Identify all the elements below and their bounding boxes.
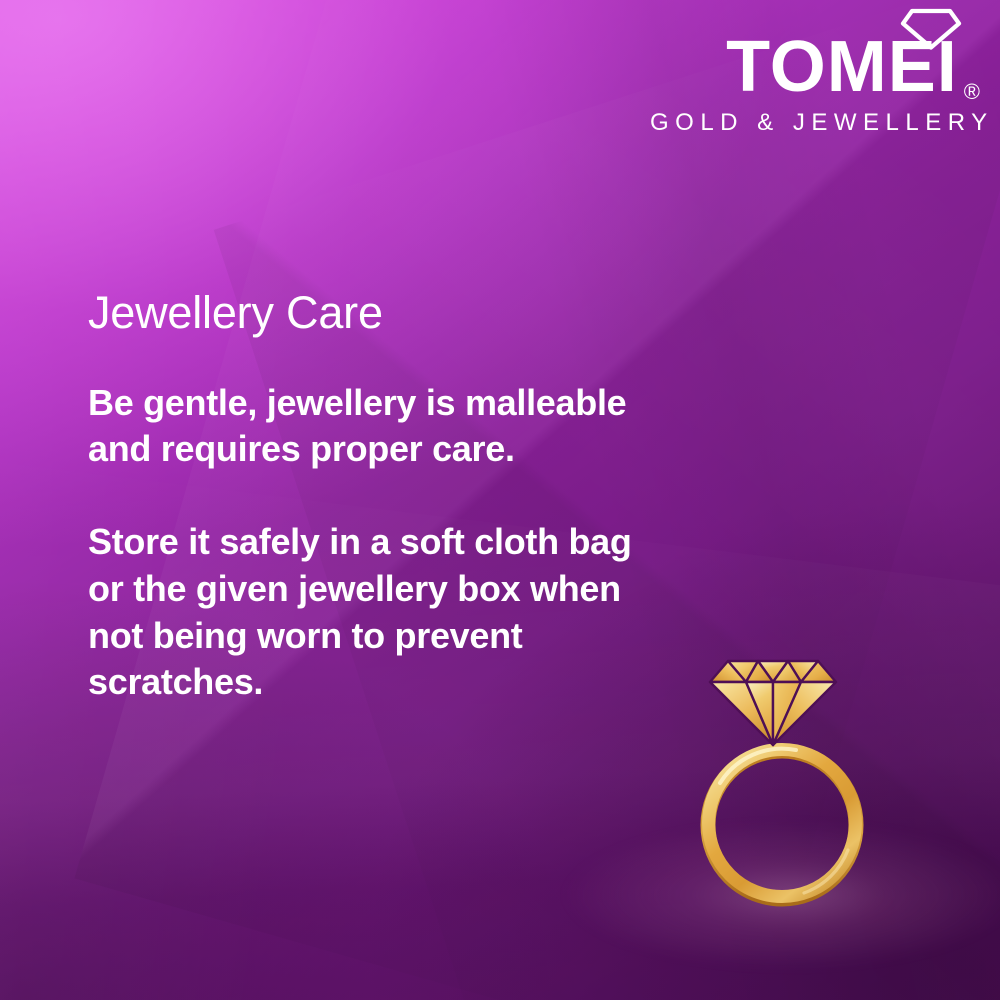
logo-tagline: GOLD & JEWELLERY — [650, 109, 980, 137]
care-paragraph-2: Store it safely in a soft cloth bag or t… — [88, 519, 633, 706]
gold-band — [708, 749, 856, 899]
diamond-ring-illustration — [700, 650, 880, 910]
logo-wordmark: TOMEI — [726, 33, 958, 101]
brand-logo: TOMEI ® GOLD & JEWELLERY — [650, 6, 980, 137]
jewellery-care-poster: TOMEI ® GOLD & JEWELLERY Jewellery Care … — [0, 0, 1000, 1000]
logo-wordmark-row: TOMEI ® — [650, 6, 980, 103]
diamond-gem — [710, 661, 836, 745]
page-title: Jewellery Care — [88, 288, 668, 338]
care-paragraph-1: Be gentle, jewellery is malleable and re… — [88, 380, 633, 474]
copy-block: Jewellery Care Be gentle, jewellery is m… — [88, 288, 668, 706]
registered-trademark-icon: ® — [964, 81, 980, 103]
